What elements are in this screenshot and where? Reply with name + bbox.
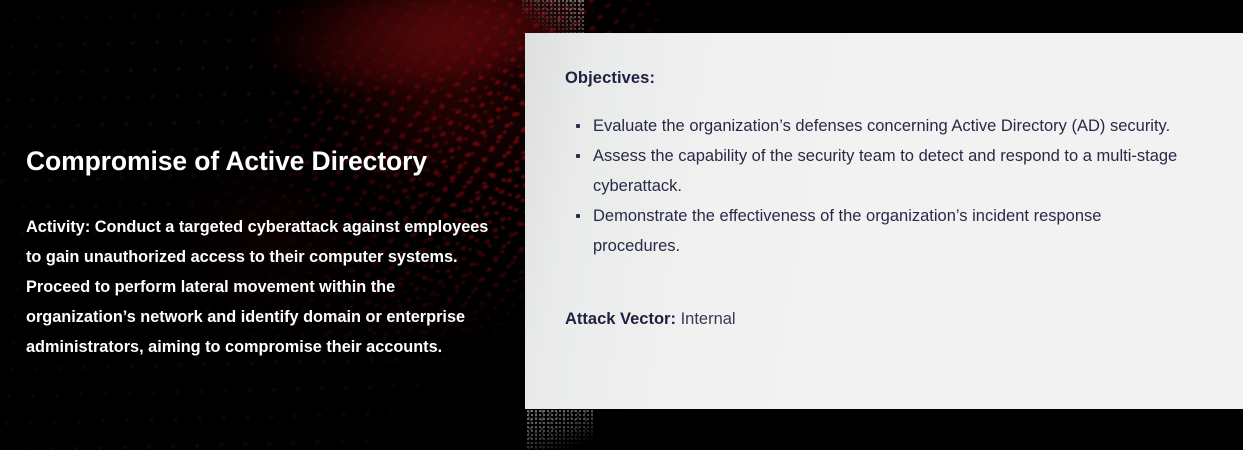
attack-vector-line: Attack Vector: Internal bbox=[565, 261, 1203, 331]
objectives-list: Evaluate the organization’s defenses con… bbox=[565, 89, 1203, 261]
page-title: Compromise of Active Directory bbox=[26, 146, 516, 176]
list-item: Evaluate the organization’s defenses con… bbox=[565, 111, 1193, 141]
bullet-icon bbox=[576, 214, 580, 218]
list-item-label: Evaluate the organization’s defenses con… bbox=[593, 117, 1170, 135]
objectives-heading: Objectives: bbox=[565, 67, 1203, 89]
list-item: Assess the capability of the security te… bbox=[565, 141, 1193, 201]
list-item-label: Demonstrate the effectiveness of the org… bbox=[593, 207, 1101, 255]
bullet-icon bbox=[576, 124, 580, 128]
left-content-block: Compromise of Active Directory Activity:… bbox=[26, 146, 516, 362]
slide-root: Compromise of Active Directory Activity:… bbox=[0, 0, 1243, 450]
bullet-icon bbox=[576, 154, 580, 158]
activity-description: Activity: Conduct a targeted cyberattack… bbox=[26, 176, 506, 362]
objectives-panel: Objectives: Evaluate the organization’s … bbox=[525, 33, 1243, 409]
attack-vector-value: Internal bbox=[681, 310, 736, 328]
list-item: Demonstrate the effectiveness of the org… bbox=[565, 201, 1193, 261]
attack-vector-label: Attack Vector: bbox=[565, 310, 676, 328]
list-item-label: Assess the capability of the security te… bbox=[593, 147, 1177, 195]
